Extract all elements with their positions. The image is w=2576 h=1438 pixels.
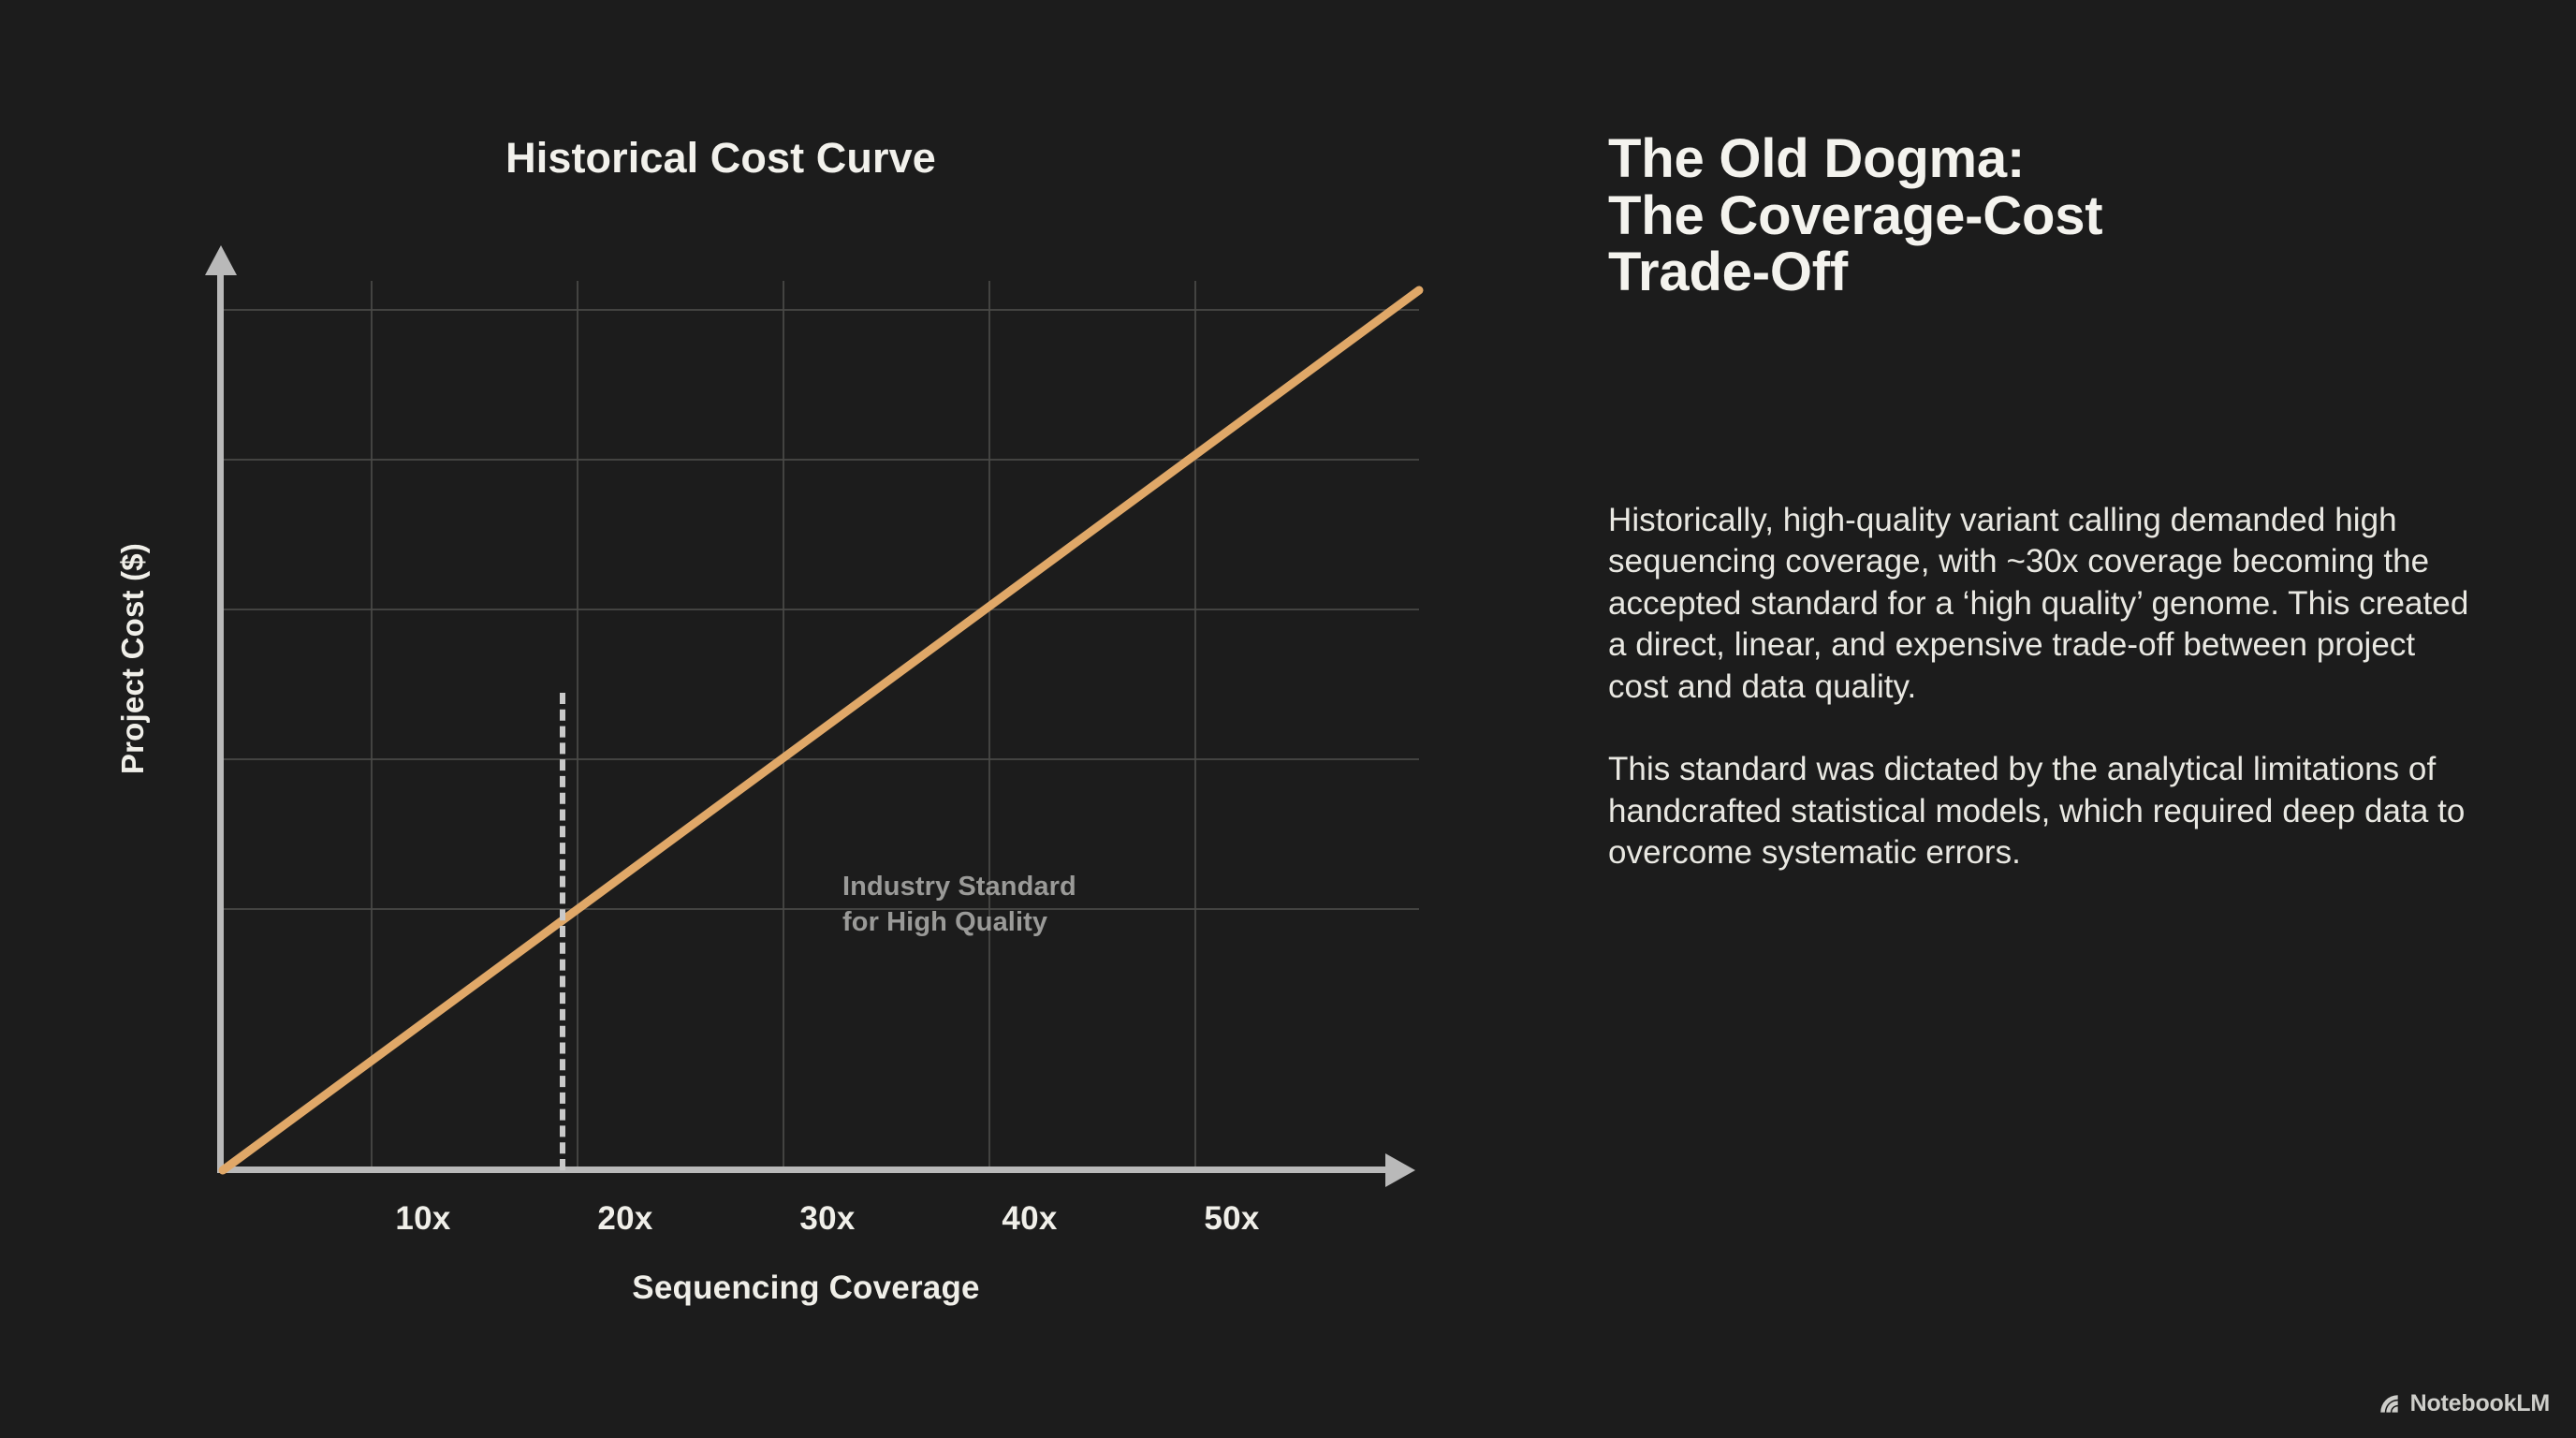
y-axis-title: Project Cost ($) bbox=[115, 543, 151, 774]
notebooklm-watermark: NotebookLM bbox=[2378, 1390, 2550, 1417]
chart-panel: Historical Cost Curve Industry Standard bbox=[0, 0, 1535, 1438]
paragraph-1: Historically, high-quality variant calli… bbox=[1608, 500, 2479, 708]
chart-title: Historical Cost Curve bbox=[0, 134, 1442, 183]
page-title: The Old Dogma: The Coverage-Cost Trade-O… bbox=[1608, 131, 2432, 301]
industry-standard-annotation: Industry Standard for High Quality bbox=[842, 869, 1076, 941]
x-axis-title: Sequencing Coverage bbox=[223, 1269, 1389, 1307]
watermark-label: NotebookLM bbox=[2410, 1390, 2550, 1417]
slide-root: Historical Cost Curve Industry Standard bbox=[0, 0, 2576, 1438]
annotation-line-2: for High Quality bbox=[842, 904, 1076, 940]
y-axis-arrow-icon bbox=[205, 245, 237, 275]
industry-standard-marker-line bbox=[560, 693, 565, 1170]
body-copy: Historically, high-quality variant calli… bbox=[1608, 500, 2479, 874]
headline-line-2: The Coverage-Cost bbox=[1608, 188, 2432, 245]
xtick-20x: 20x bbox=[597, 1200, 652, 1238]
paragraph-2: This standard was dictated by the analyt… bbox=[1608, 749, 2479, 873]
text-panel: The Old Dogma: The Coverage-Cost Trade-O… bbox=[1608, 0, 2488, 1438]
xtick-40x: 40x bbox=[1002, 1200, 1057, 1238]
xtick-10x: 10x bbox=[395, 1200, 450, 1238]
xtick-50x: 50x bbox=[1204, 1200, 1259, 1238]
xtick-30x: 30x bbox=[799, 1200, 855, 1238]
headline-line-1: The Old Dogma: bbox=[1608, 131, 2432, 188]
annotation-line-1: Industry Standard bbox=[842, 869, 1076, 904]
cost-curve-line bbox=[223, 281, 1419, 1170]
headline-line-3: Trade-Off bbox=[1608, 244, 2432, 301]
notebooklm-spiral-icon bbox=[2378, 1392, 2402, 1416]
